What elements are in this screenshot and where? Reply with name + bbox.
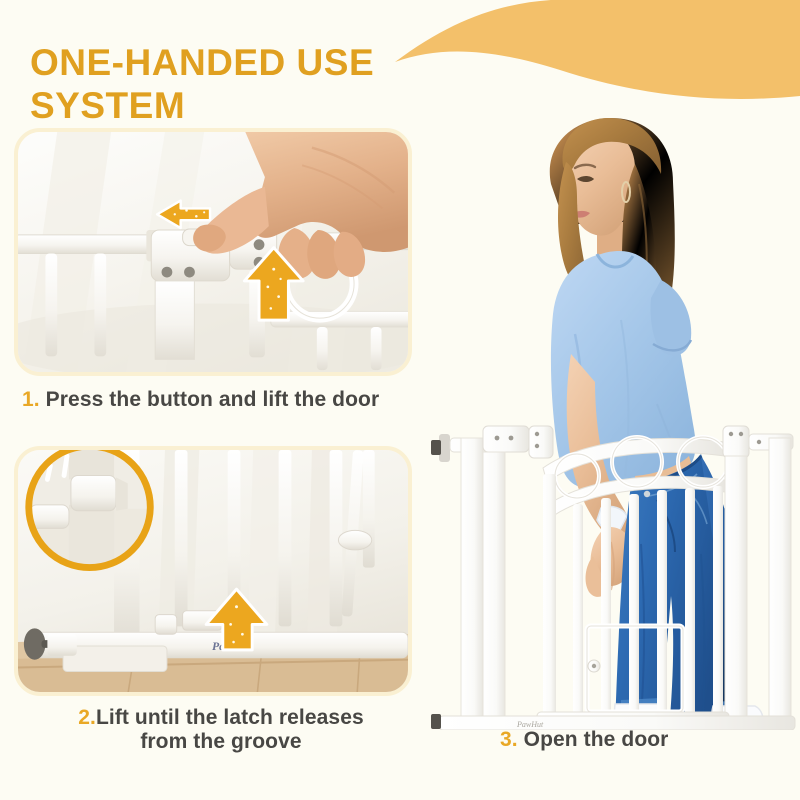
step-2-line1: 2.Lift until the latch releases <box>26 706 416 730</box>
step-3-text: Open the door <box>524 728 669 751</box>
page-title: ONE-HANDED USE SYSTEM <box>30 42 470 128</box>
step-2-number: 2. <box>78 706 96 729</box>
jeans-rivet <box>644 491 650 497</box>
rivet <box>184 267 195 278</box>
page-title-line1: ONE-HANDED USE <box>30 42 470 85</box>
rivet <box>162 267 173 278</box>
panel-open-door: PawHut <box>425 104 797 730</box>
step-3-caption: 3. Open the door <box>500 728 790 752</box>
mount-bolt <box>431 714 441 729</box>
latch-tab <box>155 615 177 635</box>
page-title-line2: SYSTEM <box>30 85 470 128</box>
step-2-caption: 2.Lift until the latch releases from the… <box>26 706 416 755</box>
adjust-knob <box>338 530 371 550</box>
step-1-number: 1. <box>22 388 40 411</box>
step-2-text2: from the groove <box>26 730 416 754</box>
rivet <box>254 239 265 250</box>
photo-lift-latch: PawHut <box>18 450 408 695</box>
panel-lift-latch: PawHut <box>14 446 412 696</box>
panel-press-button <box>14 128 412 376</box>
step-3-number: 3. <box>500 728 518 751</box>
infographic-root: ONE-HANDED USE SYSTEM <box>0 0 800 800</box>
step-1-text: Press the button and lift the door <box>46 388 380 411</box>
photo-open-door: PawHut <box>425 104 797 730</box>
magnifier-callout <box>29 450 151 568</box>
photo-press-button <box>18 132 408 375</box>
step-2-text1: Lift until the latch releases <box>96 706 364 729</box>
step-1-caption: 1. Press the button and lift the door <box>22 388 482 412</box>
mount-bolt <box>431 440 441 455</box>
